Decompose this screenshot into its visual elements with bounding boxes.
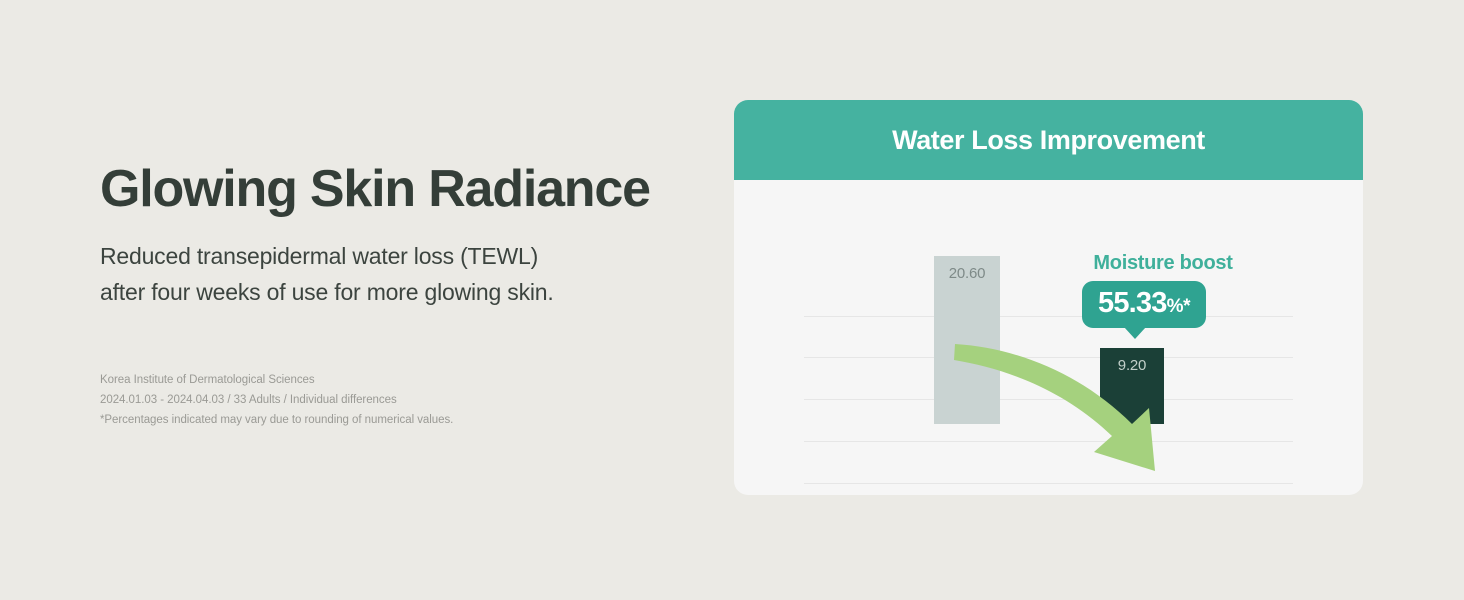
annotation-label: Moisture boost bbox=[1063, 252, 1263, 275]
decrease-arrow-icon bbox=[734, 180, 1363, 495]
bar-before-use: 20.60 bbox=[934, 256, 1000, 424]
chart-card-header: Water Loss Improvement bbox=[734, 100, 1363, 180]
page-title: Glowing Skin Radiance bbox=[100, 162, 700, 217]
subheadline-line-1: Reduced transepidermal water loss (TEWL) bbox=[100, 239, 700, 275]
footnote-line-study-details: 2024.01.03 - 2024.04.03 / 33 Adults / In… bbox=[100, 391, 453, 411]
chart-plot-area: 20.60 9.20 Moisture boost 55.33 %* Befor… bbox=[734, 180, 1363, 495]
gridline bbox=[804, 483, 1293, 484]
gridline bbox=[804, 399, 1293, 400]
gridline bbox=[804, 316, 1293, 317]
footnote-line-institution: Korea Institute of Dermatological Scienc… bbox=[100, 371, 453, 391]
improvement-badge-suffix: %* bbox=[1167, 296, 1191, 318]
subheadline: Reduced transepidermal water loss (TEWL)… bbox=[100, 239, 700, 311]
bar-value-after-4-weeks: 9.20 bbox=[1100, 357, 1164, 374]
gridline bbox=[804, 357, 1293, 358]
marketing-copy-block: Glowing Skin Radiance Reduced transepide… bbox=[100, 162, 700, 311]
chart-card: Water Loss Improvement 20.60 9.20 Moistu… bbox=[734, 100, 1363, 495]
gridline bbox=[804, 441, 1293, 442]
bar-after-4-weeks: 9.20 bbox=[1100, 348, 1164, 424]
footnote-line-disclaimer: *Percentages indicated may vary due to r… bbox=[100, 411, 453, 431]
subheadline-line-2: after four weeks of use for more glowing… bbox=[100, 275, 700, 311]
bar-value-before-use: 20.60 bbox=[934, 265, 1000, 282]
improvement-badge-value: 55.33 bbox=[1098, 287, 1167, 320]
improvement-badge: 55.33 %* bbox=[1082, 281, 1206, 328]
improvement-badge-tail bbox=[1124, 327, 1146, 339]
chart-title: Water Loss Improvement bbox=[892, 125, 1205, 156]
study-footnote: Korea Institute of Dermatological Scienc… bbox=[100, 371, 453, 430]
